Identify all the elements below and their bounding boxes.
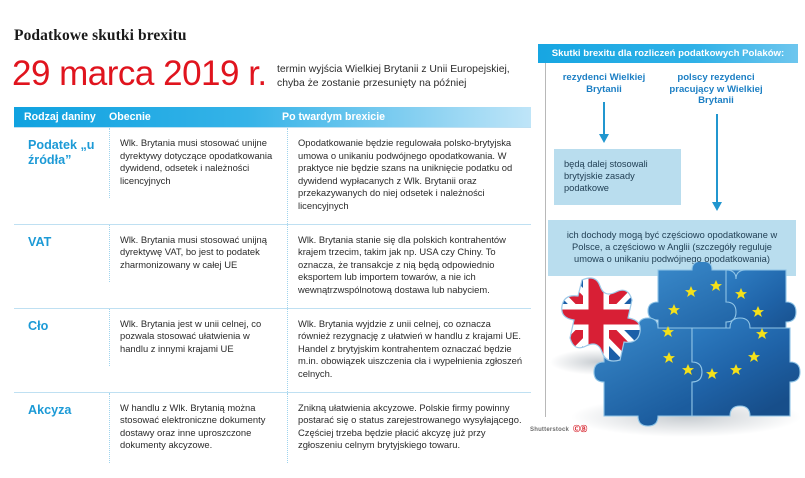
table-header-row: Rodzaj daniny Obecnie Po twardym brexici… xyxy=(14,107,531,127)
credit-text: Shutterstock xyxy=(530,427,569,433)
table-row: VAT Wlk. Brytania musi stosować unijną d… xyxy=(14,224,531,308)
tax-effects-table: Rodzaj daniny Obecnie Po twardym brexici… xyxy=(14,107,531,463)
page-title: Podatkowe skutki brexitu xyxy=(14,27,187,45)
column-header-kind: Rodzaj daniny xyxy=(24,111,96,123)
puzzle-illustration xyxy=(536,262,805,442)
table-row: Cło Wlk. Brytania jest w unii celnej, co… xyxy=(14,308,531,392)
row-now-text: Wlk. Brytania musi stosować unijne dyrek… xyxy=(109,128,287,198)
branch-label-polish-residents: polscy rezydenci pracujący w Wielkiej Br… xyxy=(654,72,778,107)
side-panel-heading: Skutki brexitu dla rozliczeń podatkowych… xyxy=(538,44,798,63)
flow-arrow-right-head xyxy=(712,202,722,211)
eu-puzzle-piece-bottom-right xyxy=(692,318,800,416)
row-hard-text: Znikną ułatwienia akcyzowe. Polskie firm… xyxy=(287,393,531,463)
image-credit: ShutterstockⒸⒷ xyxy=(530,424,587,434)
flow-arrow-left-head xyxy=(599,134,609,143)
branch-label-uk-residents: rezydenci Wielkiej Brytanii xyxy=(552,72,656,95)
brexit-date-note: termin wyjścia Wielkiej Brytanii z Unii … xyxy=(277,63,527,90)
row-hard-text: Opodatkowanie będzie regulowała polsko-b… xyxy=(287,128,531,224)
row-kind-label: Podatek „u źródła” xyxy=(14,128,109,179)
table-row: Podatek „u źródła” Wlk. Brytania musi st… xyxy=(14,127,531,224)
row-now-text: Wlk. Brytania musi stosować unijną dyrek… xyxy=(109,225,287,283)
row-kind-label: Cło xyxy=(14,309,109,345)
flow-arrow-right-line xyxy=(716,114,718,204)
row-hard-text: Wlk. Brytania wyjdzie z unii celnej, co … xyxy=(287,309,531,392)
column-header-now: Obecnie xyxy=(109,111,151,123)
infographic-page: Podatkowe skutki brexitu 29 marca 2019 r… xyxy=(0,0,805,478)
brexit-date: 29 marca 2019 r. xyxy=(12,55,267,93)
table-row: Akcyza W handlu z Wlk. Brytanią można st… xyxy=(14,392,531,463)
row-kind-label: Akcyza xyxy=(14,393,109,429)
outcome-box-uk-residents: będą dalej stosowali brytyjskie zasady p… xyxy=(554,149,681,205)
row-kind-label: VAT xyxy=(14,225,109,261)
copyright-icon: ⒸⒷ xyxy=(573,426,587,433)
row-now-text: Wlk. Brytania jest w unii celnej, co poz… xyxy=(109,309,287,367)
row-hard-text: Wlk. Brytania stanie się dla polskich ko… xyxy=(287,225,531,308)
flow-arrow-left-line xyxy=(603,102,605,136)
column-header-hard: Po twardym brexicie xyxy=(282,111,385,123)
row-now-text: W handlu z Wlk. Brytanią można stosować … xyxy=(109,393,287,463)
